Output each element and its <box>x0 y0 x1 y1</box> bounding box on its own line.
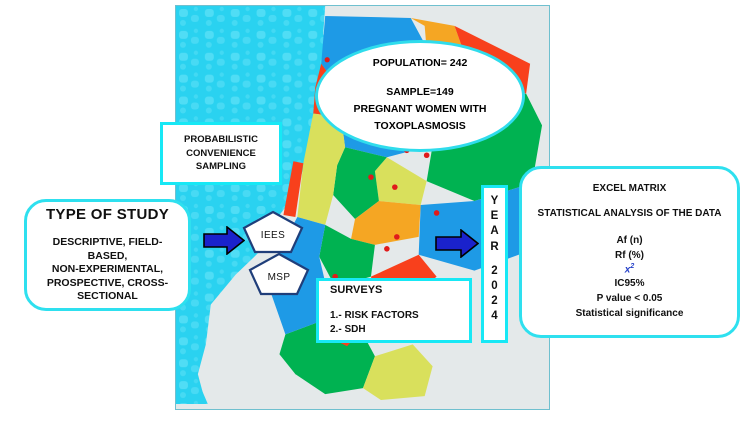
surveys-item: 1.- RISK FACTORS <box>330 309 419 324</box>
type-of-study-body: DESCRIPTIVE, FIELD-BASED, NON-EXPERIMENT… <box>36 236 179 303</box>
type-of-study-line: SECTIONAL <box>36 290 179 303</box>
sample-line: PREGNANT WOMEN WITH <box>354 101 487 118</box>
surveys-box: SURVEYS 1.- RISK FACTORS 2.- SDH <box>316 278 472 343</box>
sample-line: SAMPLE=149 <box>354 84 487 101</box>
sampling-line: CONVENIENCE <box>186 147 256 161</box>
surveys-header: SURVEYS <box>330 284 382 296</box>
year-char: Y <box>491 194 499 209</box>
population-line: POPULATION= 242 <box>373 57 468 69</box>
type-of-study-line: NON-EXPERIMENTAL, <box>36 263 179 276</box>
excel-stat: IC95% <box>614 276 644 291</box>
year-digit: 4 <box>491 309 497 324</box>
type-of-study-line: PROSPECTIVE, CROSS- <box>36 277 179 290</box>
badge-msp-label: MSP <box>268 272 291 283</box>
excel-stat: Af (n) <box>616 233 642 248</box>
badge-iees: IEES <box>242 210 304 254</box>
excel-matrix-box: EXCEL MATRIX STATISTICAL ANALYSIS OF THE… <box>519 166 740 338</box>
badge-msp: MSP <box>248 252 310 296</box>
sample-line: TOXOPLASMOSIS <box>354 118 487 135</box>
type-of-study-line: DESCRIPTIVE, FIELD-BASED, <box>36 236 179 263</box>
sampling-box: PROBABILISTIC CONVENIENCE SAMPLING <box>160 122 282 185</box>
year-char: E <box>491 209 499 224</box>
year-char: A <box>490 224 498 239</box>
chi-square-symbol: x2 <box>625 263 634 275</box>
chi-exponent: 2 <box>630 263 634 270</box>
sampling-line: SAMPLING <box>196 160 246 174</box>
sampling-line: PROBABILISTIC <box>184 133 258 147</box>
excel-stat: Rf (%) <box>615 248 644 263</box>
year-digit: 2 <box>491 294 497 309</box>
arrow-right-icon <box>203 226 245 255</box>
year-char: R <box>490 240 498 255</box>
sample-block: SAMPLE=149 PREGNANT WOMEN WITH TOXOPLASM… <box>354 84 487 134</box>
excel-stat: P value < 0.05 <box>597 291 663 306</box>
surveys-item: 2.- SDH <box>330 323 366 338</box>
badge-iees-label: IEES <box>261 230 285 241</box>
year-digit: 0 <box>491 279 497 294</box>
figure-root: TYPE OF STUDY DESCRIPTIVE, FIELD-BASED, … <box>0 0 745 423</box>
year-box: Y E A R 2 0 2 4 <box>481 185 508 343</box>
excel-header: EXCEL MATRIX <box>593 183 667 194</box>
type-of-study-title: TYPE OF STUDY <box>46 206 169 223</box>
excel-subheader: STATISTICAL ANALYSIS OF THE DATA <box>538 208 722 219</box>
type-of-study-box: TYPE OF STUDY DESCRIPTIVE, FIELD-BASED, … <box>24 199 191 311</box>
arrow-right-icon <box>435 229 479 258</box>
year-digit: 2 <box>491 264 497 279</box>
excel-stat: Statistical significance <box>576 306 684 321</box>
population-ellipse: POPULATION= 242 SAMPLE=149 PREGNANT WOME… <box>315 40 525 152</box>
